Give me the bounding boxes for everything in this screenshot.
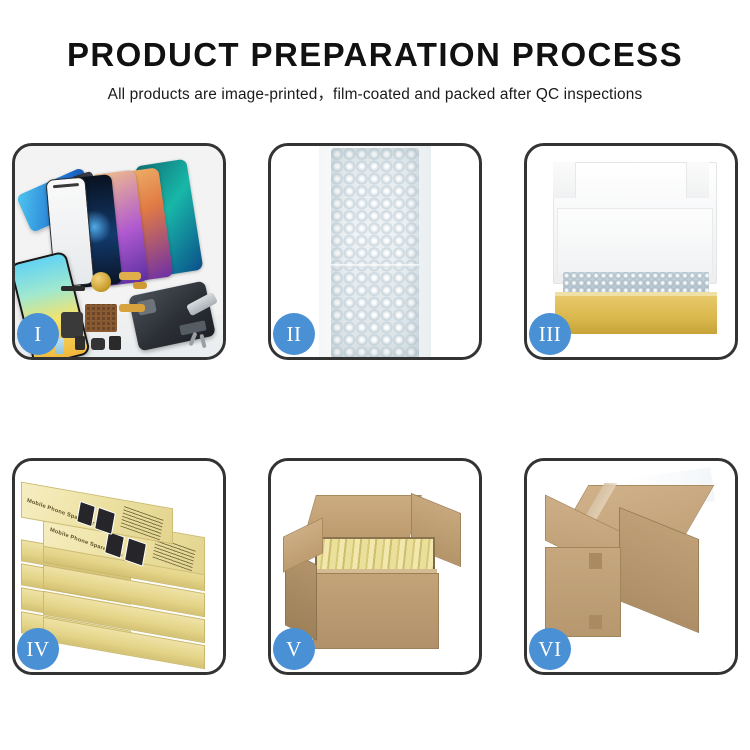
carton-edge-tab-bottom — [589, 615, 602, 629]
carton-edge-tab-top — [589, 553, 602, 569]
bubble-wrap-seam — [330, 264, 420, 268]
process-steps-grid: I II III — [12, 143, 738, 675]
page-title: PRODUCT PREPARATION PROCESS — [0, 0, 750, 74]
step-badge-6: VI — [529, 628, 571, 670]
box-tray-front — [555, 318, 717, 334]
step-panel-3: III — [524, 143, 738, 360]
step-panel-1: I — [12, 143, 226, 360]
step-panel-4: Mobile Phone Spare Parts Mobile Phone Sp… — [12, 458, 226, 675]
step-badge-3: III — [529, 313, 571, 355]
sealed-carton-front-face — [545, 547, 621, 637]
carton-front-face — [313, 573, 439, 649]
bubble-wrap-sheet — [331, 148, 419, 357]
box-spec-text-back — [120, 505, 163, 540]
step-panel-2: II — [268, 143, 482, 360]
step-panel-5: V — [268, 458, 482, 675]
box-screen-image-b2 — [94, 507, 116, 535]
part-bar — [61, 286, 85, 291]
step-badge-5: V — [273, 628, 315, 670]
step-badge-4: IV — [17, 628, 59, 670]
box-lid-flap-right — [686, 162, 709, 198]
part-mesh — [85, 304, 117, 332]
part-flex-cable-1 — [61, 312, 83, 338]
foam-sheet — [557, 208, 713, 276]
step-badge-2: II — [273, 313, 315, 355]
part-flex-cable-4 — [133, 282, 147, 289]
step-badge-1: I — [17, 313, 59, 355]
part-small-1 — [75, 336, 85, 350]
part-coil — [91, 272, 111, 292]
step-panel-6: VI — [524, 458, 738, 675]
part-small-3 — [109, 336, 121, 350]
page-subtitle: All products are image-printed，film-coat… — [0, 74, 750, 104]
page-header: PRODUCT PREPARATION PROCESS All products… — [0, 0, 750, 104]
part-flex-cable-2 — [119, 304, 145, 312]
part-small-2 — [91, 338, 105, 350]
part-flex-cable-3 — [119, 272, 141, 280]
box-lid-flap-left — [553, 162, 576, 198]
